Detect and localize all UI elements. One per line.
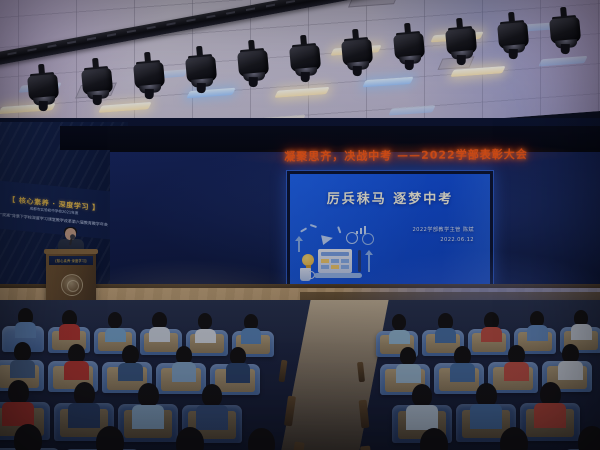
- slide-subtitle: 2022学部教学主管 陈斌 2022.06.12: [412, 226, 474, 245]
- slide-illustration: [296, 220, 382, 282]
- stage-light-fixture: [288, 34, 322, 80]
- monitor-icon: [318, 249, 352, 273]
- up-arrow-icon: [368, 254, 370, 272]
- stage-light-fixture: [80, 57, 114, 103]
- mug-icon: [300, 268, 311, 281]
- sparkle-icon: [300, 227, 307, 232]
- stage-light-fixture: [26, 63, 60, 109]
- lightbulb-icon: [302, 254, 314, 266]
- slide: 厉兵秣马 逐梦中考 2022学部教学主管 陈斌 2022.06.12: [290, 174, 490, 284]
- slide-date: 2022.06.12: [412, 236, 474, 246]
- center-aisle: [281, 300, 388, 450]
- up-arrow-icon: [298, 240, 300, 252]
- sparkle-icon: [338, 226, 342, 233]
- stage-light-fixture: [548, 6, 582, 52]
- clock-icon: [346, 232, 358, 244]
- stage-light-fixture: [236, 39, 270, 85]
- audience-area: [0, 300, 600, 450]
- seat-armrest: [278, 360, 287, 383]
- seat-armrest: [360, 446, 374, 450]
- sparkle-icon: [310, 223, 317, 227]
- led-banner-text: 凝聚思齐，决战中考 ——2022学部表彰大会: [246, 144, 566, 165]
- stage-light-fixture: [444, 17, 478, 63]
- paper-plane-icon: [321, 233, 334, 245]
- desk-surface: [314, 273, 362, 278]
- auditorium-photo: 凝聚思齐，决战中考 ——2022学部表彰大会 厉兵秣马 逐梦中考 2022学部教…: [0, 0, 600, 450]
- stage-light-fixture: [184, 45, 218, 91]
- stage-light-fixture: [392, 22, 426, 68]
- circle-icon: [362, 233, 374, 245]
- school-crest-icon: [61, 274, 83, 296]
- podium-nameplate-text: 【核心素养·深度学习】: [53, 258, 88, 263]
- stage-light-fixture: [340, 28, 374, 74]
- slide-presenter: 2022学部教学主管 陈斌: [412, 226, 474, 236]
- podium-top: [44, 249, 98, 254]
- podium-nameplate: 【核心素养·深度学习】: [49, 256, 93, 265]
- slide-title: 厉兵秣马 逐梦中考: [290, 188, 490, 207]
- presentation-screen: 厉兵秣马 逐梦中考 2022学部教学主管 陈斌 2022.06.12: [286, 170, 494, 288]
- podium: 【核心素养·深度学习】: [46, 252, 96, 304]
- vertical-bar-shape: [358, 250, 361, 272]
- stage-light-fixture: [132, 51, 166, 97]
- stage-light-fixture: [496, 11, 530, 57]
